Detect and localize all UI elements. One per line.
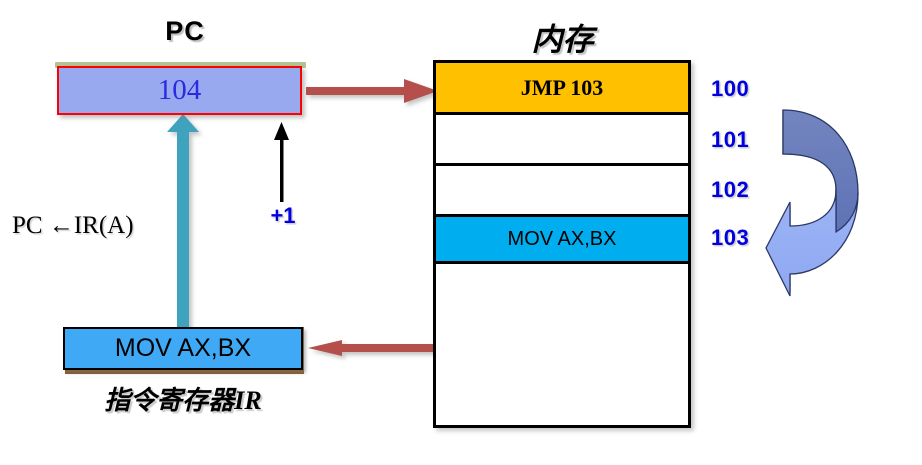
memory-cell-100-content: JMP 103	[521, 75, 604, 101]
jump-loop-upper-band	[783, 110, 856, 230]
memory-block: JMP 103 MOV AX,BX	[433, 60, 691, 428]
memory-cell-101[interactable]	[436, 115, 688, 166]
ir-register-box[interactable]: MOV AX,BX	[63, 327, 303, 370]
pc-register-box[interactable]: 104	[57, 66, 302, 115]
arrow-pc-to-memory	[306, 79, 438, 103]
arrow-memory-to-ir	[308, 340, 445, 356]
memory-address-101: 101	[711, 127, 781, 153]
ir-register-caption: 指令寄存器IR	[58, 380, 308, 417]
arrow-jump-loop	[766, 110, 882, 302]
arrow-ir-to-pc	[167, 114, 199, 330]
ir-register-value: MOV AX,BX	[115, 334, 251, 363]
pc-load-from-ir-label: PC ←IR(A)	[12, 212, 134, 240]
jump-loop-top-arc	[783, 110, 858, 232]
pc-register-value: 104	[59, 68, 300, 113]
increment-label: +1	[258, 203, 308, 229]
memory-address-100: 100	[711, 76, 781, 102]
memory-title: 内存	[500, 14, 625, 59]
memory-address-103: 103	[711, 225, 781, 251]
memory-address-102: 102	[711, 177, 781, 203]
diagram-canvas: PC 104 PC ←IR(A) +1 内存 JMP 103 MOV AX,BX…	[0, 0, 922, 465]
memory-cell-103[interactable]: MOV AX,BX	[436, 217, 688, 264]
memory-cell-empty[interactable]	[436, 264, 688, 424]
memory-cell-100[interactable]: JMP 103	[436, 63, 688, 115]
pc-title: PC	[145, 16, 225, 47]
arrow-increment-to-pc	[274, 122, 289, 202]
memory-cell-103-content: MOV AX,BX	[508, 228, 617, 251]
jump-loop-arrowhead	[768, 196, 856, 292]
memory-cell-102[interactable]	[436, 166, 688, 217]
